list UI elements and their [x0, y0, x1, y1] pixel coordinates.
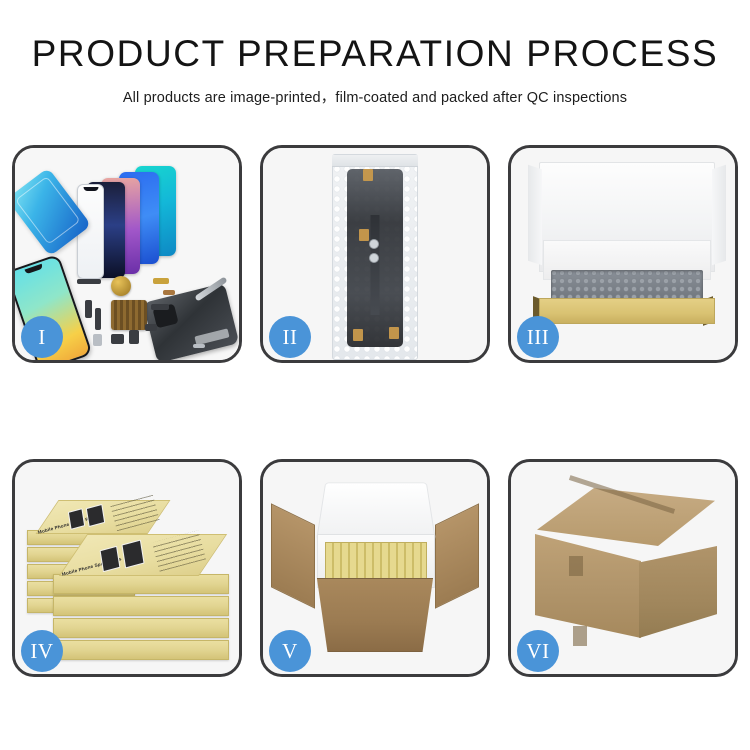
process-step-grid: I II — [12, 145, 738, 677]
kraft-box-front-icon — [539, 298, 715, 324]
carton-tape-icon — [573, 626, 587, 646]
process-step-panel-6: VI — [508, 459, 738, 677]
process-step-panel-3: III — [508, 145, 738, 363]
process-step-panel-2: II — [260, 145, 490, 363]
component-part-icon — [163, 290, 175, 295]
step-badge-1: I — [21, 316, 63, 358]
phone-notch-icon — [83, 187, 98, 191]
step-badge-2: II — [269, 316, 311, 358]
product-preparation-infographic: PRODUCT PREPARATION PROCESS All products… — [0, 0, 750, 750]
page-title: PRODUCT PREPARATION PROCESS — [0, 34, 750, 75]
connector-icon — [369, 239, 379, 249]
process-step-panel-1: I — [12, 145, 242, 363]
carton-flap-icon — [271, 503, 315, 608]
connector-icon — [369, 253, 379, 263]
retail-box-icon — [53, 618, 229, 638]
carton-flap-icon — [435, 503, 479, 608]
component-part-icon — [151, 304, 169, 310]
retail-box-icon — [53, 574, 229, 594]
speaker-component-icon — [111, 276, 131, 296]
carton-front-icon — [535, 534, 641, 638]
step-badge-6: VI — [517, 630, 559, 672]
foam-cooler-lid-icon — [316, 482, 436, 540]
retail-box-icon — [53, 640, 229, 660]
component-part-icon — [77, 279, 101, 284]
component-part-icon — [93, 334, 102, 346]
tape-icon — [359, 229, 369, 241]
tape-icon — [363, 169, 373, 181]
carton-tape-icon — [569, 556, 583, 576]
tape-icon — [353, 329, 363, 341]
process-step-panel-5: V — [260, 459, 490, 677]
component-part-icon — [111, 334, 124, 344]
bubble-wrap-bag-icon — [332, 154, 418, 360]
page-subtitle: All products are image-printed，film-coat… — [0, 86, 750, 107]
flex-cable-icon — [371, 215, 380, 315]
bag-seal-icon — [332, 155, 418, 167]
tape-icon — [389, 327, 399, 339]
phone-notch-icon — [25, 264, 44, 275]
component-part-icon — [85, 300, 92, 318]
box-window-icon — [100, 546, 121, 573]
process-step-panel-4: Mobile Phone Spare Parts Mobile Phone Sp… — [12, 459, 242, 677]
step-badge-4: IV — [21, 630, 63, 672]
step-badge-3: III — [517, 316, 559, 358]
box-window-icon — [68, 508, 85, 530]
component-part-icon — [95, 308, 101, 330]
component-part-icon — [145, 324, 157, 331]
header: PRODUCT PREPARATION PROCESS All products… — [0, 34, 750, 107]
retail-box-icon — [53, 596, 229, 616]
component-part-icon — [193, 344, 205, 348]
component-part-icon — [153, 278, 169, 284]
component-part-icon — [129, 330, 139, 344]
carton-body-icon — [309, 578, 441, 652]
carton-side-icon — [639, 546, 717, 638]
box-window-icon — [121, 539, 144, 568]
step-badge-5: V — [269, 630, 311, 672]
screw-tray-icon — [111, 300, 147, 330]
packed-retail-boxes-icon — [325, 542, 427, 580]
